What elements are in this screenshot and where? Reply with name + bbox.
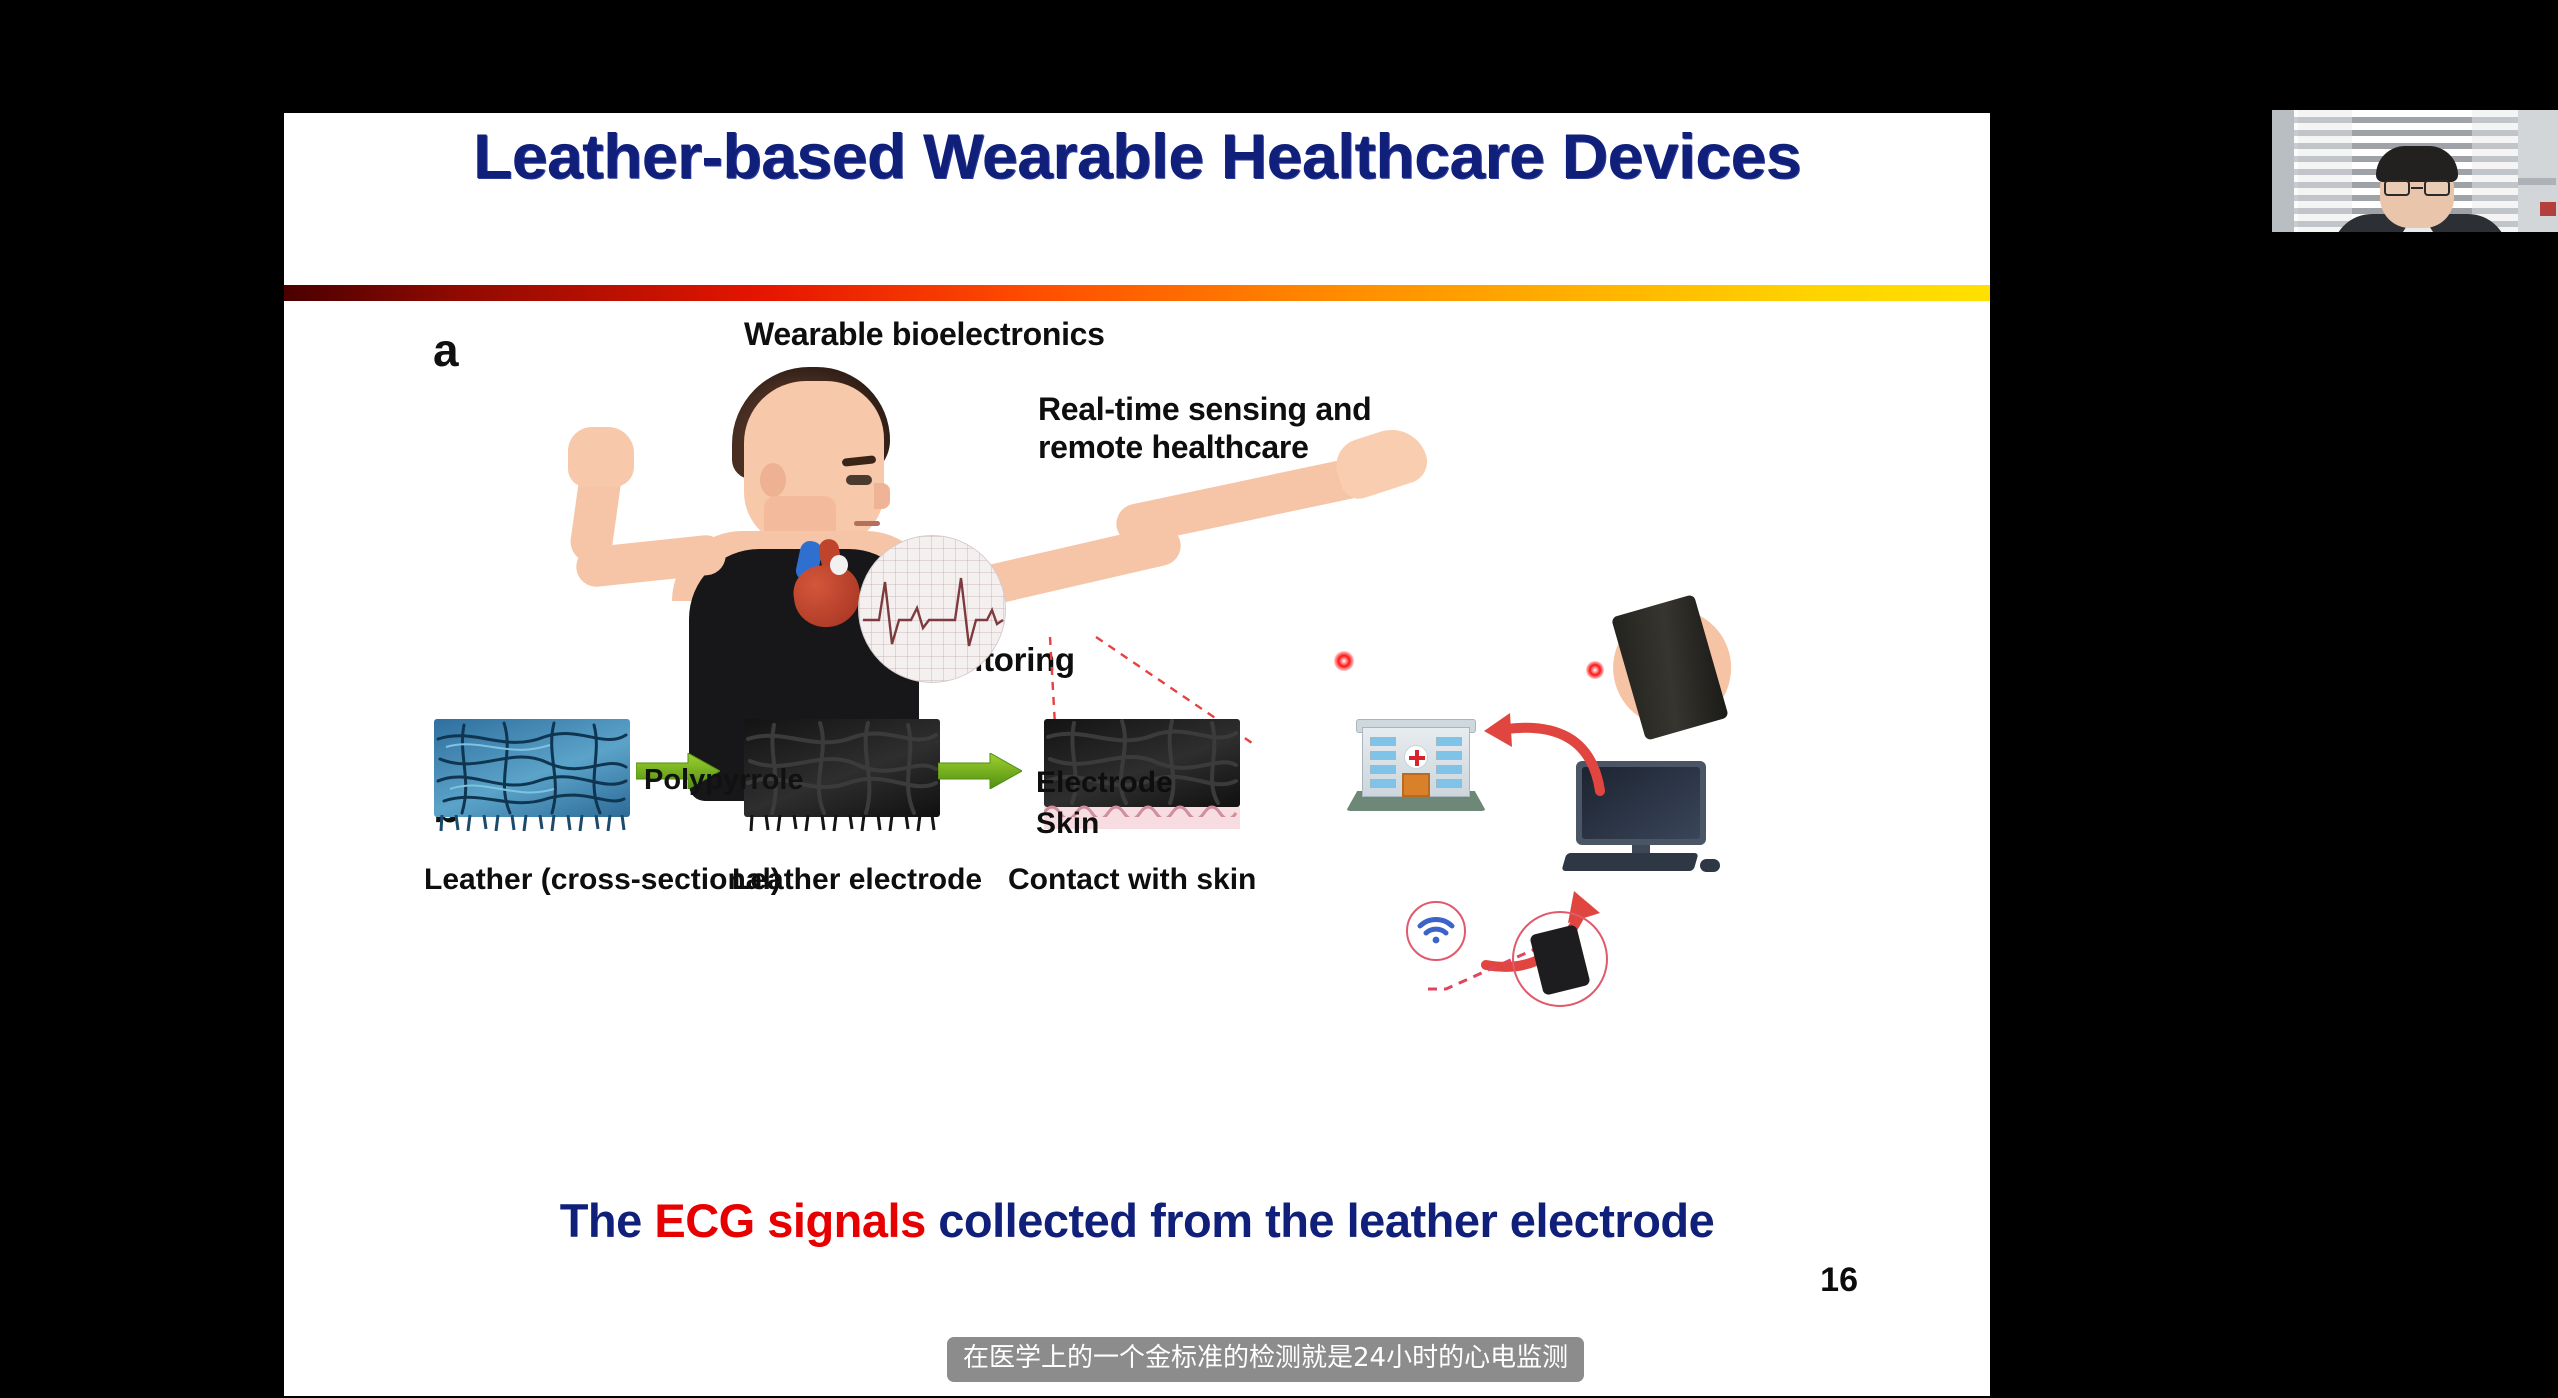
glasses-icon <box>2384 180 2450 196</box>
page-title: Leather-based Wearable Healthcare Device… <box>284 121 1990 193</box>
caption-leather-electrode: Leather electrode <box>732 863 982 897</box>
page-number: 16 <box>1820 1261 1858 1300</box>
magnified-wristband <box>1585 584 1758 757</box>
hospital-icon <box>1346 713 1486 817</box>
slide-title-bar: Leather-based Wearable Healthcare Device… <box>284 113 1990 285</box>
red-cross-icon <box>1404 745 1428 769</box>
red-object <box>2540 202 2556 216</box>
gradient-accent-bar <box>284 285 1990 301</box>
presentation-slide[interactable]: Leather-based Wearable Healthcare Device… <box>284 113 1990 1396</box>
slide-bottom-caption: The ECG signals collected from the leath… <box>284 1193 1990 1248</box>
nose-shape <box>874 483 890 509</box>
red-led-icon <box>1586 661 1604 679</box>
caption-suffix: collected from the leather electrode <box>926 1194 1715 1247</box>
caption-contact-with-skin: Contact with skin <box>1008 863 1256 897</box>
figure-area: a b Wearable bioelectronics Real-time se… <box>284 301 1990 1201</box>
caption-prefix: The <box>560 1194 655 1247</box>
screen-root: Leather-based Wearable Healthcare Device… <box>0 0 2558 1398</box>
wearable-bioelectronics-label: Wearable bioelectronics <box>744 316 1105 354</box>
arrow-to-hospital-icon <box>1480 711 1610 801</box>
panel-a-letter: a <box>433 323 459 377</box>
leather-cross-section-icon <box>434 719 630 817</box>
subtitle-caption-bar: 在医学上的一个金标准的检测就是24小时的心电监测 <box>947 1337 1584 1382</box>
presenter-video-feed[interactable] <box>2272 110 2558 232</box>
shelf <box>2518 178 2556 185</box>
left-fist-shape <box>568 427 634 487</box>
caption-leather-cross-sectional: Leather (cross-sectional) <box>424 863 781 897</box>
skin-layer-label: Skin <box>1036 806 1099 841</box>
realtime-sensing-label: Real-time sensing and remote healthcare <box>1038 391 1371 467</box>
caption-highlight: ECG signals <box>654 1194 925 1247</box>
polypyrrole-label: Polypyrrole <box>644 764 804 797</box>
electrode-layer-label: Electrode <box>1036 765 1173 800</box>
mouth-shape <box>854 521 880 526</box>
presenter-hair <box>2376 146 2458 182</box>
green-arrow-icon-2 <box>938 753 1022 789</box>
ecg-led-icon <box>1334 651 1354 671</box>
eye-shape <box>846 475 872 485</box>
ear-shape <box>760 463 786 497</box>
